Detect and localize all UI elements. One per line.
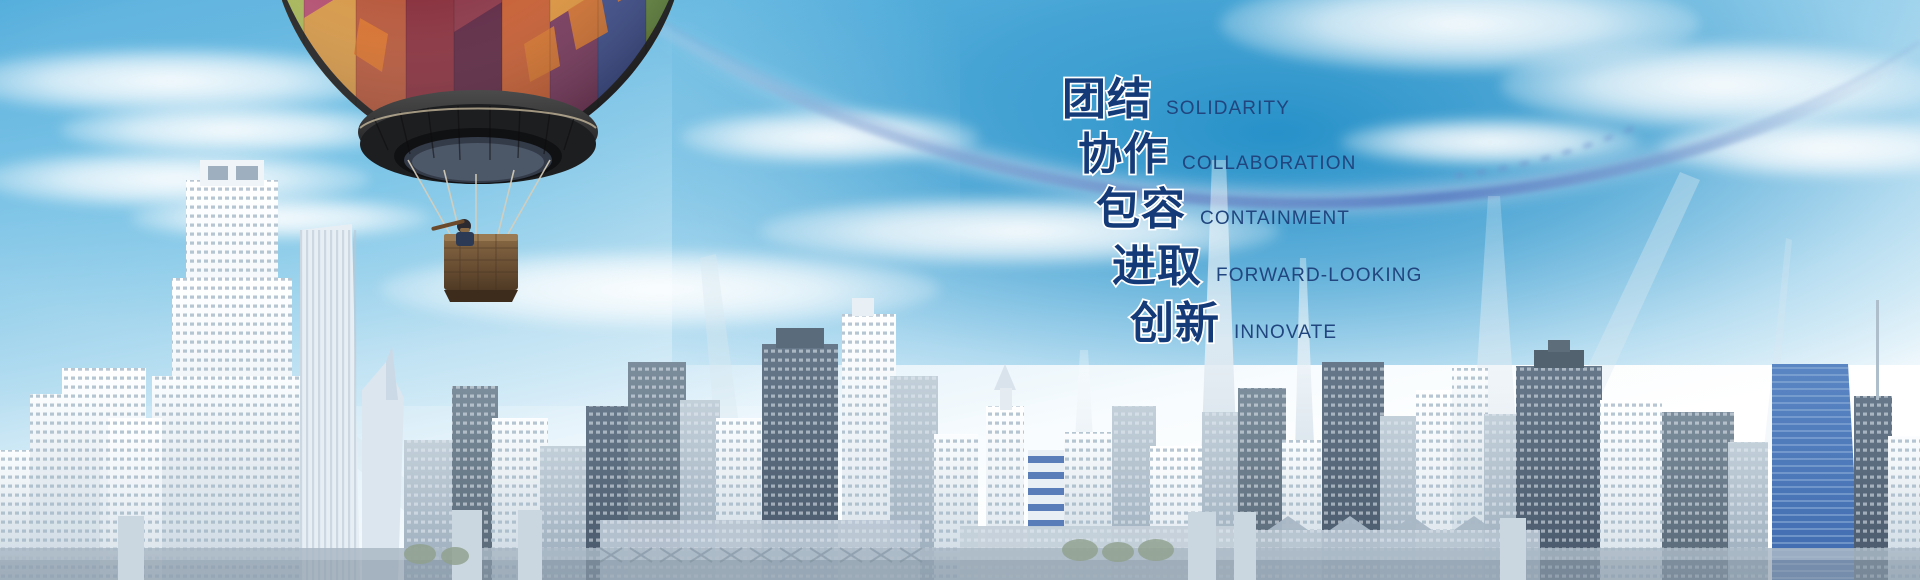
slogan-en-containment: CONTAINMENT — [1200, 209, 1350, 228]
hot-air-balloon — [268, 0, 688, 342]
slogan-row-forward-looking: 进取 FORWARD-LOOKING — [1112, 245, 1423, 289]
slogan-en-solidarity: SOLIDARITY — [1166, 99, 1290, 118]
slogan-row-collaboration: 协作 COLLABORATION — [1078, 133, 1356, 177]
slogan-cn-innovate: 创新 — [1130, 302, 1220, 346]
balloon-basket — [444, 234, 518, 302]
slogan-cn-solidarity: 团结 — [1062, 78, 1152, 122]
slogan-en-collaboration: COLLABORATION — [1182, 154, 1356, 173]
slogan-en-forward-looking: FORWARD-LOOKING — [1216, 266, 1423, 285]
slogan-en-innovate: INNOVATE — [1234, 323, 1337, 342]
culture-banner: 团结 SOLIDARITY 协作 COLLABORATION 包容 CONTAI… — [0, 0, 1920, 580]
slogan-cn-forward-looking: 进取 — [1112, 245, 1202, 289]
slogan-row-innovate: 创新 INNOVATE — [1130, 302, 1337, 346]
cloud-7 — [1500, 42, 1920, 128]
slogan-row-solidarity: 团结 SOLIDARITY — [1062, 78, 1290, 122]
slogan-cn-collaboration: 协作 — [1078, 133, 1168, 177]
slogan-cn-containment: 包容 — [1096, 188, 1186, 232]
slogan-row-containment: 包容 CONTAINMENT — [1096, 188, 1350, 232]
balloon-throat — [358, 90, 598, 184]
